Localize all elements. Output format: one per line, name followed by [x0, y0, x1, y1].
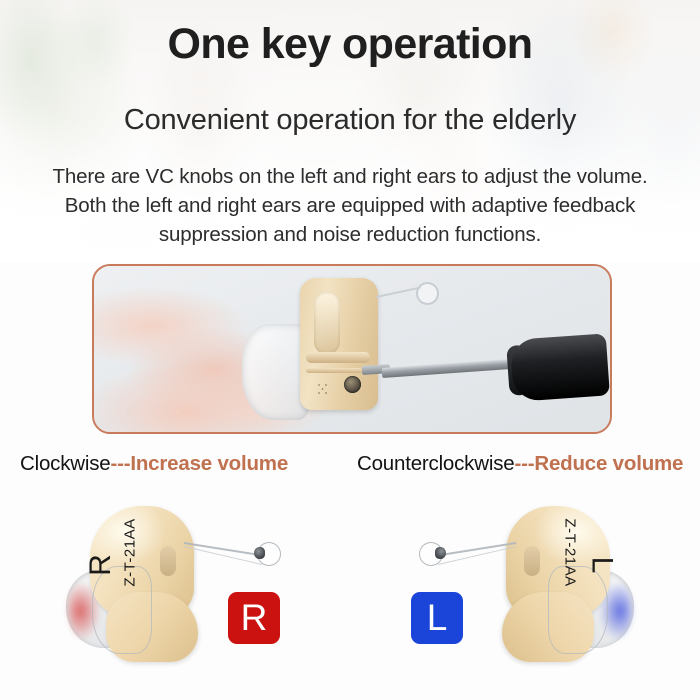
- right-model-text: Z-T-21AA: [122, 518, 139, 586]
- product-row: Z-T-21AA R R L Z-T-21AA L: [0, 492, 700, 700]
- caption-clockwise-label: Clockwise: [20, 452, 110, 475]
- description-line-1: There are VC knobs on the left and right…: [18, 162, 682, 191]
- caption-counterclockwise: Counterclockwise---Reduce volume: [357, 450, 683, 478]
- right-removal-knot: [254, 547, 265, 559]
- instruction-photo-frame: [92, 264, 612, 434]
- caption-counterclockwise-accent: ---Reduce volume: [514, 452, 683, 475]
- left-removal-knot: [435, 547, 446, 559]
- instruction-photo: [94, 266, 610, 432]
- product-feature-page: One key operation Convenient operation f…: [0, 0, 700, 700]
- description-paragraph: There are VC knobs on the left and right…: [18, 162, 682, 249]
- photo-vc-knob: [344, 376, 361, 393]
- photo-hearing-aid-body: [300, 278, 378, 410]
- photo-aid-ridge: [314, 292, 340, 354]
- left-side-letter: L: [585, 557, 619, 574]
- page-title: One key operation: [0, 22, 700, 67]
- photo-screwdriver-shaft: [382, 358, 522, 378]
- photo-aid-band-secondary: [306, 368, 362, 373]
- photo-removal-loop: [416, 282, 439, 305]
- left-model-text: Z-T-21AA: [561, 518, 578, 586]
- photo-removal-wire: [376, 286, 421, 298]
- hearing-aid-right: Z-T-21AA R: [14, 492, 239, 700]
- right-side-letter: R: [84, 554, 118, 576]
- caption-clockwise: Clockwise---Increase volume: [20, 450, 288, 478]
- photo-aid-band: [306, 352, 370, 363]
- description-line-3: suppression and noise reduction function…: [18, 220, 682, 249]
- right-shell-notch: [160, 546, 176, 576]
- photo-microphone-grille: [316, 382, 330, 396]
- hearing-aid-left: Z-T-21AA L: [461, 492, 686, 700]
- caption-clockwise-accent: ---Increase volume: [110, 452, 288, 475]
- badge-left: L: [411, 592, 463, 644]
- caption-row: Clockwise---Increase volume Counterclock…: [0, 450, 700, 482]
- caption-counterclockwise-label: Counterclockwise: [357, 452, 514, 475]
- photo-screwdriver-handle: [510, 333, 610, 402]
- left-shell-notch: [524, 546, 540, 576]
- badge-right: R: [228, 592, 280, 644]
- page-subtitle: Convenient operation for the elderly: [0, 104, 700, 137]
- description-line-2: Both the left and right ears are equippe…: [18, 191, 682, 220]
